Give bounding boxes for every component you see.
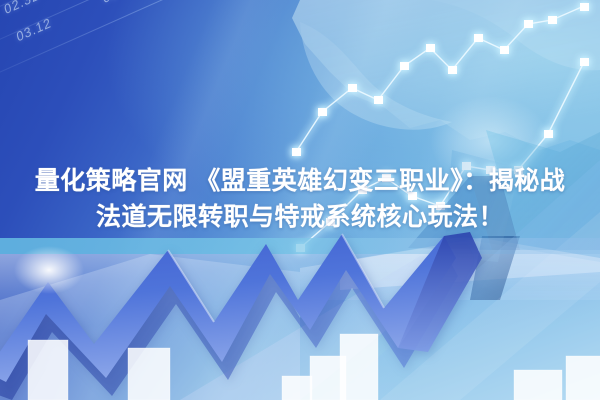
banner-image: 21.15 -02.35 -50.02 -02.36 45.02 45.02 -…	[0, 0, 600, 400]
bar	[128, 348, 170, 400]
headline-line-1: 量化策略官网 《盟重英雄幻变三职业》：揭秘战	[10, 163, 590, 199]
bar	[28, 340, 68, 400]
bar	[340, 334, 378, 400]
page-title: 量化策略官网 《盟重英雄幻变三职业》：揭秘战 法道无限转职与特戒系统核心玩法！	[0, 163, 600, 235]
bar	[566, 356, 600, 400]
glow-spot-lower-left	[14, 246, 84, 294]
bar	[282, 376, 312, 400]
bar	[514, 370, 562, 400]
headline-line-2: 法道无限转职与特戒系统核心玩法！	[10, 199, 590, 235]
